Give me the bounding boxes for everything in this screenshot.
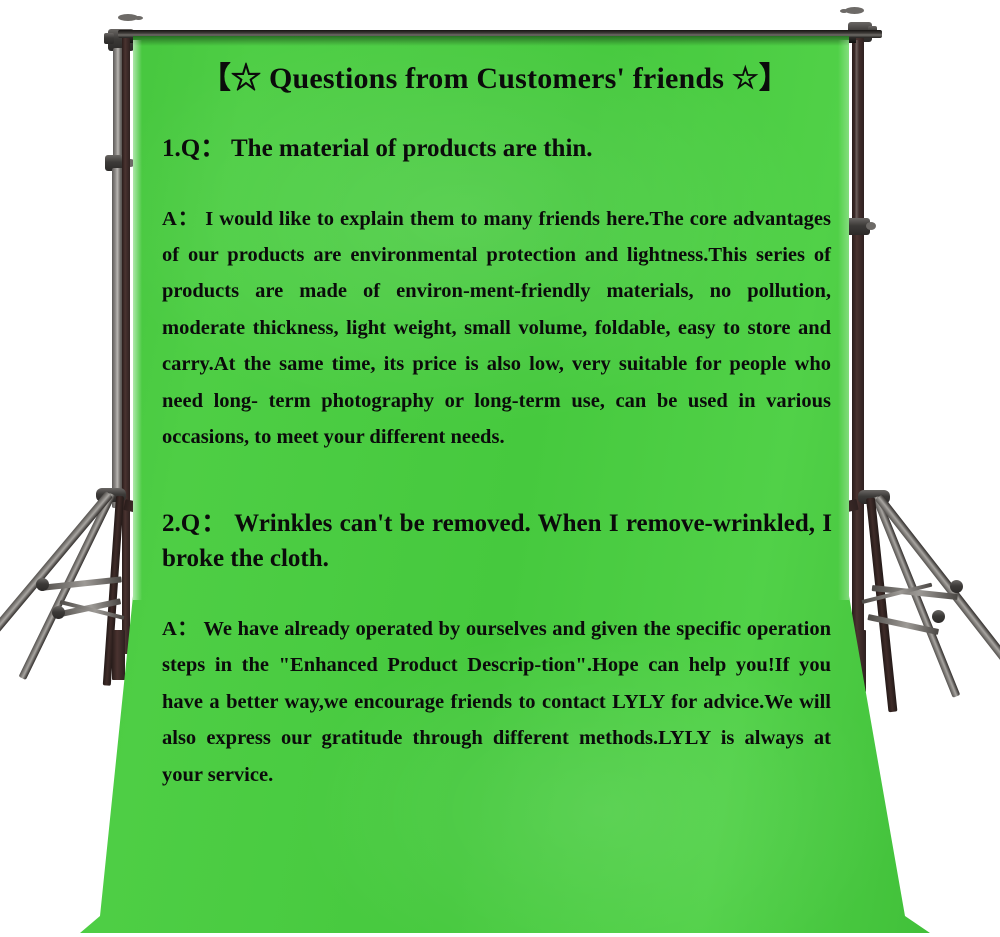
product-image: 【☆ Questions from Customers' friends ☆】 … xyxy=(0,0,1000,937)
spacer xyxy=(150,577,840,611)
spacer xyxy=(150,97,840,131)
right-brace-joint-lower xyxy=(932,610,945,623)
backdrop-left-highlight xyxy=(133,40,142,600)
left-brace-joint xyxy=(36,578,49,591)
left-brace-joint-lower xyxy=(52,606,65,619)
left-top-clamp-collar xyxy=(104,33,114,44)
left-inner-pole xyxy=(122,34,130,654)
faq-answer-1: A： I would like to explain them to many … xyxy=(150,201,840,456)
faq-overlay: 【☆ Questions from Customers' friends ☆】 … xyxy=(150,44,840,793)
left-center-column-foot xyxy=(112,630,125,680)
spacer xyxy=(150,456,840,506)
left-tripod-leg-front xyxy=(0,491,113,661)
right-height-adjust-knob xyxy=(866,222,876,230)
faq-question-2: 2.Q： Wrinkles can't be removed. When I r… xyxy=(150,506,840,577)
faq-answer-2: A： We have already operated by ourselves… xyxy=(150,611,840,793)
spacer xyxy=(150,167,840,201)
faq-title: 【☆ Questions from Customers' friends ☆】 xyxy=(150,53,840,97)
faq-question-1: 1.Q： The material of products are thin. xyxy=(150,131,840,167)
right-brace-joint xyxy=(950,580,963,593)
right-upper-pole-highlight xyxy=(855,40,859,230)
left-top-screw-knob-tip xyxy=(134,16,143,20)
right-top-screw-knob-tip xyxy=(840,9,848,13)
